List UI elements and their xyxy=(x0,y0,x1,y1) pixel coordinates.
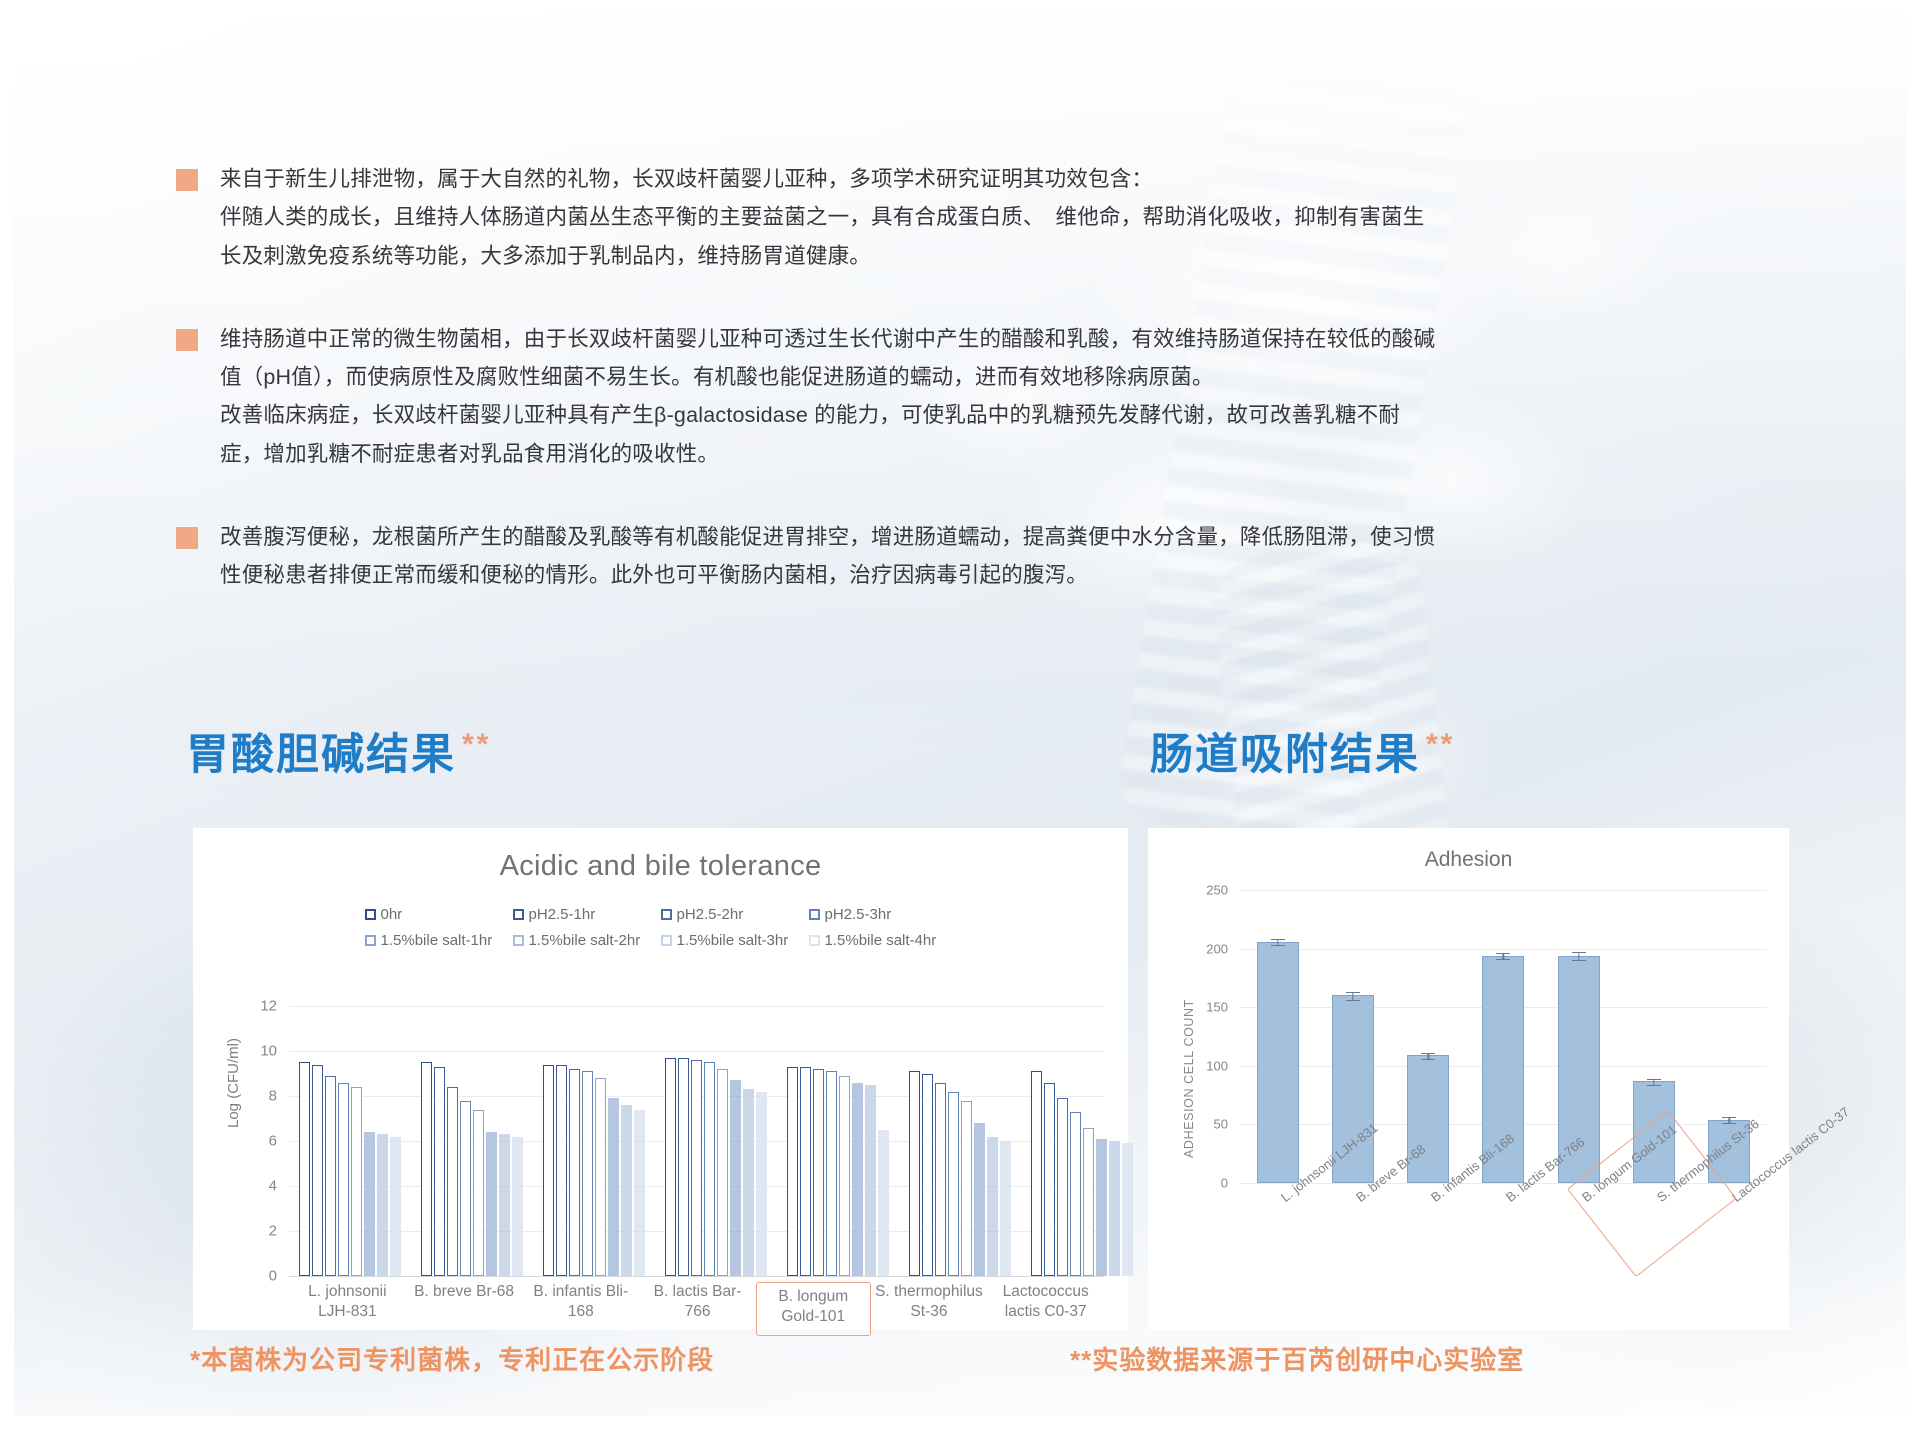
section-heading-adhesion-text: 肠道吸附结果 xyxy=(1150,731,1420,779)
bullet-text: 来自于新生儿排泄物，属于大自然的礼物，长双歧杆菌婴儿亚种，多项学术研究证明其功效… xyxy=(220,160,1424,275)
x-axis-labels-adhesion: L. johnsonii LJH-831B. breve Br-68B. inf… xyxy=(1240,1187,1767,1307)
y-tick-label: 100 xyxy=(1188,1058,1228,1073)
error-bar xyxy=(1421,1053,1435,1060)
bar xyxy=(499,1134,510,1276)
bullet-line: 改善腹泻便秘，龙根菌所产生的醋酸及乳酸等有机酸能促进胃排空，增进肠道蠕动，提高粪… xyxy=(220,518,1435,556)
chart-plot-area-acidic-bile: Log (CFU/ml) 024681012 xyxy=(193,828,1128,1330)
y-tick-label: 10 xyxy=(237,1043,277,1060)
gridline xyxy=(289,1276,1104,1277)
bullet-line: 改善临床病症，长双歧杆菌婴儿亚种具有产生β-galactosidase 的能力，… xyxy=(220,396,1435,434)
chart-card-acidic-bile-tolerance: Acidic and bile tolerance 0hrpH2.5-1hrpH… xyxy=(193,828,1128,1330)
bar xyxy=(582,1071,593,1276)
bar xyxy=(1083,1128,1094,1277)
bar xyxy=(756,1092,767,1277)
bar xyxy=(1057,1098,1068,1276)
bar xyxy=(717,1069,728,1276)
x-axis-label: Lactococcus lactis C0-37 xyxy=(987,1282,1104,1336)
bullet-line: 伴随人类的成长，且维持人体肠道内菌丛生态平衡的主要益菌之一，具有合成蛋白质、 维… xyxy=(220,198,1424,236)
bar-group xyxy=(899,1006,1021,1276)
section-heading-acid-bile-stars: ** xyxy=(462,728,491,761)
bar xyxy=(1109,1141,1120,1276)
bar xyxy=(1031,1071,1042,1276)
section-heading-adhesion: 肠道吸附结果** xyxy=(1150,720,1455,782)
bar xyxy=(1096,1139,1107,1276)
bar xyxy=(621,1105,632,1276)
y-tick-label: 0 xyxy=(237,1268,277,1285)
bar xyxy=(608,1098,619,1276)
chart-card-adhesion: Adhesion ADHESION CELL COUNT 05010015020… xyxy=(1148,828,1789,1330)
y-axis-ticks-adhesion: 050100150200250 xyxy=(1184,828,1228,1330)
section-heading-acid-bile: 胃酸胆碱结果** xyxy=(186,720,491,782)
bullet-list: 来自于新生儿排泄物，属于大自然的礼物，长双歧杆菌婴儿亚种，多项学术研究证明其功效… xyxy=(176,160,1776,639)
bar xyxy=(569,1069,580,1276)
x-axis-label-cell: B. breve Br-68 xyxy=(1315,1187,1390,1307)
bar xyxy=(421,1062,432,1276)
bar-groups-acidic-bile xyxy=(289,1006,1104,1276)
y-tick-label: 50 xyxy=(1188,1117,1228,1132)
bullet-marker-icon xyxy=(176,169,198,191)
bullet-marker-icon xyxy=(176,329,198,351)
bullet-item: 维持肠道中正常的微生物菌相，由于长双歧杆菌婴儿亚种可透过生长代谢中产生的醋酸和乳… xyxy=(176,320,1776,473)
bullet-line: 值（pH值），而使病原性及腐败性细菌不易生长。有机酸也能促进肠道的蠕动，进而有效… xyxy=(220,358,1435,396)
bar xyxy=(325,1076,336,1276)
bar xyxy=(865,1085,876,1276)
bullet-line: 症，增加乳糖不耐症患者对乳品食用消化的吸收性。 xyxy=(220,435,1435,473)
bar xyxy=(512,1137,523,1277)
bar xyxy=(1044,1083,1055,1277)
x-axis-label: S. thermophilus St-36 xyxy=(871,1282,988,1336)
y-tick-label: 4 xyxy=(237,1178,277,1195)
bullet-text: 维持肠道中正常的微生物菌相，由于长双歧杆菌婴儿亚种可透过生长代谢中产生的醋酸和乳… xyxy=(220,320,1435,473)
bar xyxy=(460,1101,471,1277)
bar-group xyxy=(1021,1006,1143,1276)
bar-column xyxy=(1240,890,1315,1183)
bar xyxy=(839,1076,850,1276)
bar-group xyxy=(655,1006,777,1276)
y-tick-label: 8 xyxy=(237,1088,277,1105)
error-bar xyxy=(1346,992,1360,1001)
bar xyxy=(909,1071,920,1276)
bar xyxy=(826,1071,837,1276)
bar xyxy=(473,1110,484,1277)
bar-column xyxy=(1391,890,1466,1183)
bar xyxy=(543,1065,554,1277)
bar xyxy=(364,1132,375,1276)
bar xyxy=(800,1067,811,1276)
bar-group xyxy=(533,1006,655,1276)
bar xyxy=(691,1060,702,1276)
bar xyxy=(678,1058,689,1276)
bar xyxy=(743,1089,754,1276)
footnote-patent: *本菌株为公司专利菌株，专利正在公示阶段 xyxy=(190,1340,714,1377)
bullet-text: 改善腹泻便秘，龙根菌所产生的醋酸及乳酸等有机酸能促进胃排空，增进肠道蠕动，提高粪… xyxy=(220,518,1435,595)
bullet-line: 来自于新生儿排泄物，属于大自然的礼物，长双歧杆菌婴儿亚种，多项学术研究证明其功效… xyxy=(220,160,1424,198)
x-axis-label: B. lactis Bar-766 xyxy=(639,1282,756,1336)
y-tick-label: 150 xyxy=(1188,1000,1228,1015)
bullet-item: 改善腹泻便秘，龙根菌所产生的醋酸及乳酸等有机酸能促进胃排空，增进肠道蠕动，提高粪… xyxy=(176,518,1776,595)
x-axis-labels-acidic-bile: L. johnsonii LJH-831B. breve Br-68B. inf… xyxy=(289,1282,1104,1336)
bar xyxy=(434,1067,445,1276)
y-tick-label: 0 xyxy=(1188,1176,1228,1191)
bullet-item: 来自于新生儿排泄物，属于大自然的礼物，长双歧杆菌婴儿亚种，多项学术研究证明其功效… xyxy=(176,160,1776,275)
x-axis-label-cell: L. johnsonii LJH-831 xyxy=(1240,1187,1315,1307)
bar xyxy=(665,1058,676,1276)
bar-group xyxy=(289,1006,411,1276)
x-axis-label-cell: B. longum Gold-101 xyxy=(1541,1187,1616,1307)
y-tick-label: 12 xyxy=(237,998,277,1015)
bar-group xyxy=(411,1006,533,1276)
bar xyxy=(730,1080,741,1276)
bar xyxy=(1122,1143,1133,1276)
bullet-line: 性便秘患者排便正常而缓和便秘的情形。此外也可平衡肠内菌相，治疗因病毒引起的腹泻。 xyxy=(220,556,1435,594)
error-bar xyxy=(1722,1117,1736,1124)
bar xyxy=(351,1087,362,1276)
bar xyxy=(787,1067,798,1276)
bar xyxy=(390,1137,401,1277)
error-bar xyxy=(1271,939,1285,946)
bar xyxy=(852,1083,863,1277)
y-tick-label: 200 xyxy=(1188,941,1228,956)
error-bar xyxy=(1496,953,1510,960)
y-tick-label: 2 xyxy=(237,1223,277,1240)
x-axis-label-cell: B. infantis Bli-168 xyxy=(1391,1187,1466,1307)
bar xyxy=(556,1065,567,1277)
x-axis-label-cell: S. thermophilus St-36 xyxy=(1616,1187,1691,1307)
bar xyxy=(595,1078,606,1276)
section-heading-acid-bile-text: 胃酸胆碱结果 xyxy=(186,731,456,779)
bar-group xyxy=(777,1006,899,1276)
section-heading-adhesion-stars: ** xyxy=(1426,728,1455,761)
bar xyxy=(987,1137,998,1277)
bar xyxy=(634,1110,645,1277)
bar xyxy=(486,1132,497,1276)
bar xyxy=(377,1134,388,1276)
bar xyxy=(299,1062,310,1276)
bullet-line: 维持肠道中正常的微生物菌相，由于长双歧杆菌婴儿亚种可透过生长代谢中产生的醋酸和乳… xyxy=(220,320,1435,358)
bullet-line: 长及刺激免疫系统等功能，大多添加于乳制品内，维持肠胃道健康。 xyxy=(220,237,1424,275)
bar xyxy=(1000,1141,1011,1276)
bar xyxy=(961,1101,972,1277)
bar xyxy=(974,1123,985,1276)
x-axis-label-cell: B. lactis Bar-766 xyxy=(1466,1187,1541,1307)
bar xyxy=(878,1130,889,1276)
x-axis-label: L. johnsonii LJH-831 xyxy=(289,1282,406,1336)
y-tick-label: 6 xyxy=(237,1133,277,1150)
bar xyxy=(813,1069,824,1276)
footnote-data-source: **实验数据来源于百芮创研中心实验室 xyxy=(1070,1340,1524,1377)
bar xyxy=(935,1083,946,1277)
bar xyxy=(922,1074,933,1277)
bar xyxy=(948,1092,959,1277)
bar xyxy=(704,1062,715,1276)
x-axis-label-cell: Lactococcus lactis C0-37 xyxy=(1692,1187,1767,1307)
y-axis-ticks-acidic-bile: 024681012 xyxy=(233,828,277,1330)
x-axis-label: B. infantis Bli-168 xyxy=(522,1282,639,1336)
bar xyxy=(1070,1112,1081,1276)
error-bar xyxy=(1647,1079,1661,1086)
bar xyxy=(338,1083,349,1277)
error-bar xyxy=(1572,952,1586,961)
x-axis-label: B. breve Br-68 xyxy=(406,1282,523,1336)
x-axis-label: B. longum Gold-101 xyxy=(756,1282,871,1336)
bullet-marker-icon xyxy=(176,527,198,549)
bar xyxy=(447,1087,458,1276)
bar xyxy=(1257,942,1299,1183)
y-tick-label: 250 xyxy=(1188,883,1228,898)
bar xyxy=(312,1065,323,1277)
